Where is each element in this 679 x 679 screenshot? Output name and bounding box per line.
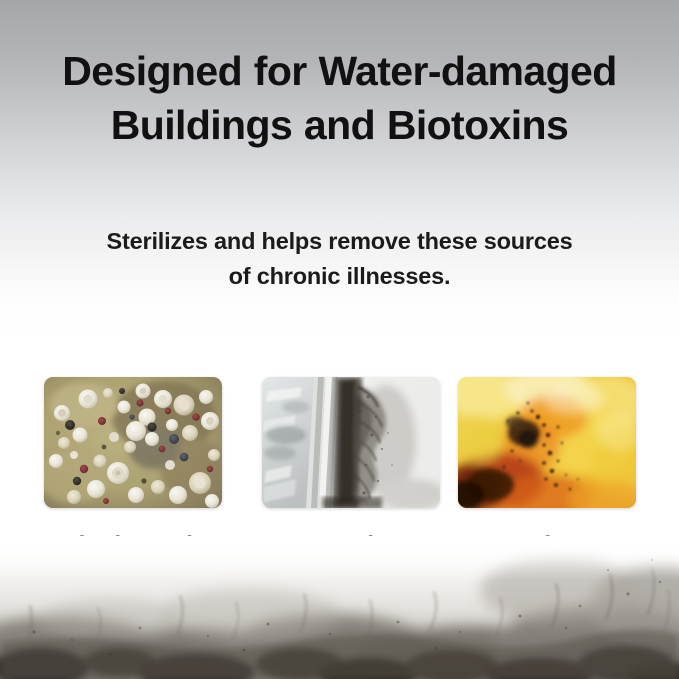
source-cards-row — [44, 377, 637, 508]
moldy-window-wall-photo — [262, 377, 440, 508]
subtitle-line-2: of chronic illnesses. — [0, 259, 679, 294]
headline-line-2: Buildings and Biotoxins — [0, 98, 679, 152]
moldy-wall-texture-photo — [0, 536, 679, 679]
bottom-mold-texture — [0, 536, 679, 679]
card-actinobacteria-image — [44, 377, 222, 508]
card-beta-glucans-image — [458, 377, 636, 508]
beta-glucan-microscopy-photo — [458, 377, 636, 508]
bacterial-colony-culture-photo — [44, 377, 222, 508]
subtitle-line-1: Sterilizes and helps remove these source… — [0, 224, 679, 259]
product-infographic-image: Designed for Water-damaged Buildings and… — [0, 0, 679, 679]
subtitle: Sterilizes and helps remove these source… — [0, 224, 679, 294]
page-title: Designed for Water-damaged Buildings and… — [0, 44, 679, 152]
headline-line-1: Designed for Water-damaged — [0, 44, 679, 98]
card-mycotoxins-image — [262, 377, 440, 508]
